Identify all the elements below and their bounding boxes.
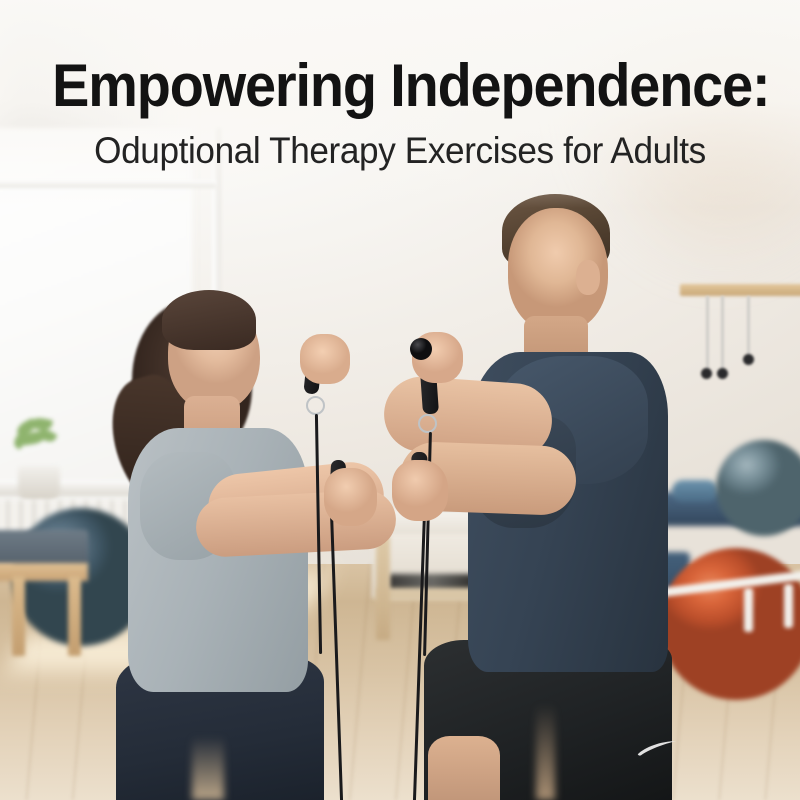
- man-hand-lower: [392, 460, 448, 521]
- woman-hand-lower: [324, 468, 377, 526]
- plant-leaves: [8, 416, 66, 460]
- resistance-band-knob-upper: [410, 338, 432, 360]
- treatment-bench-leg: [12, 576, 25, 656]
- hanging-strap: [721, 296, 724, 372]
- hanging-strap: [706, 296, 709, 372]
- hanging-strap: [747, 296, 750, 360]
- man-ear: [576, 260, 600, 295]
- plant-pot: [18, 466, 60, 500]
- equipment-rack-leg: [784, 584, 793, 628]
- man-shorts-split: [536, 704, 555, 800]
- stool-leg: [376, 536, 390, 640]
- headline-block: Empowering Independence: Oduptional Ther…: [0, 54, 800, 171]
- exercise-ball-orange: [660, 548, 800, 700]
- poster: Empowering Independence: Oduptional Ther…: [0, 0, 800, 800]
- yoga-mat-roll: [672, 480, 718, 502]
- wall-bar: [680, 284, 800, 296]
- man-thigh: [428, 736, 500, 800]
- poster-title: Empowering Independence:: [52, 54, 748, 118]
- nike-swoosh-icon: [636, 740, 678, 758]
- poster-subtitle: Oduptional Therapy Exercises for Adults: [45, 130, 756, 171]
- strap-weight: [717, 368, 728, 379]
- equipment-rack-leg: [744, 588, 753, 632]
- treatment-bench-top: [0, 530, 88, 567]
- woman-hand-upper: [300, 334, 350, 384]
- treatment-bench-leg: [68, 576, 81, 656]
- strap-weight: [701, 368, 712, 379]
- woman-hair-front: [162, 290, 256, 351]
- woman-leg-gap: [192, 736, 224, 800]
